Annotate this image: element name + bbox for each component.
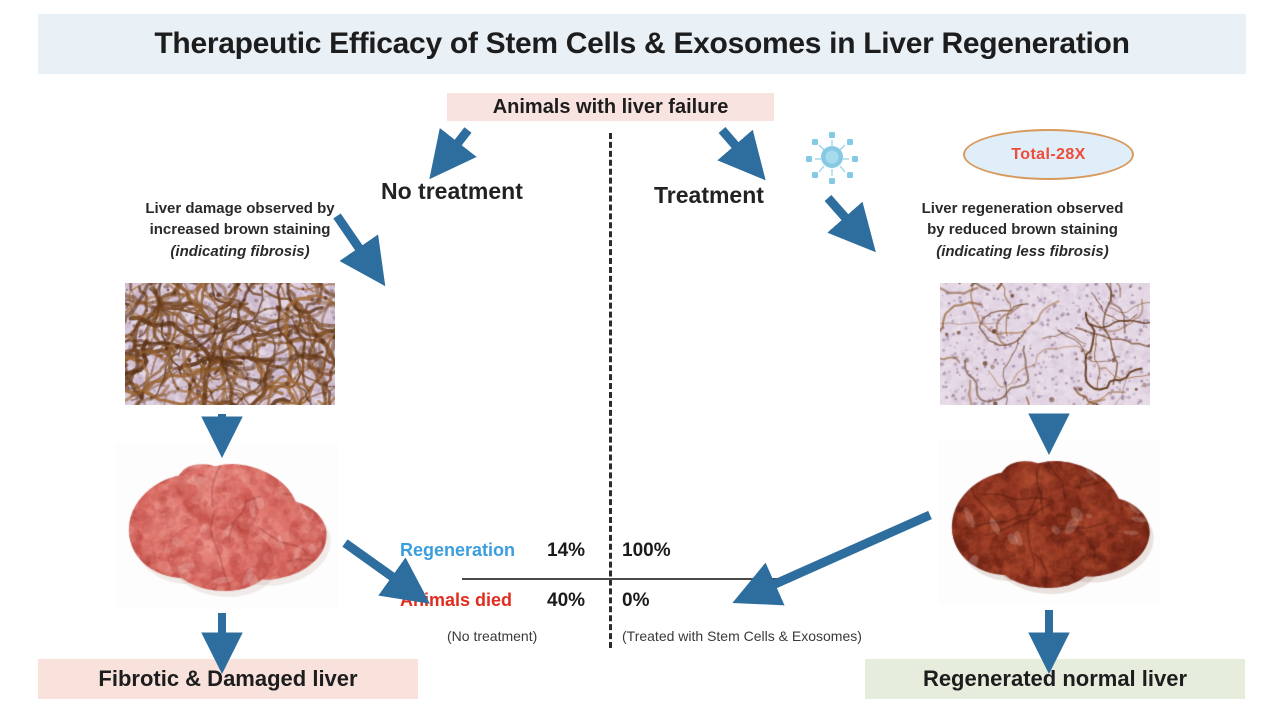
histology-image-treated	[940, 283, 1150, 405]
liver-regenerated-canvas	[938, 440, 1161, 606]
stat-value-regeneration-treated: 100%	[622, 540, 671, 562]
stat-caption-untreated: (No treatment)	[447, 628, 537, 644]
result-box-fibrotic: Fibrotic & Damaged liver	[38, 659, 418, 699]
description-left-line2: increased brown staining	[95, 219, 385, 240]
figure-title-bar: Therapeutic Efficacy of Stem Cells & Exo…	[38, 14, 1246, 74]
branch-label-treatment: Treatment	[654, 182, 764, 209]
exosome-vesicle-icon	[803, 128, 861, 186]
stat-value-died-untreated: 40%	[547, 590, 585, 612]
animals-with-liver-failure-label: Animals with liver failure	[447, 93, 774, 121]
liver-fibrotic-canvas	[115, 443, 338, 609]
arrow-to-treatment	[722, 130, 748, 160]
result-label-regenerated: Regenerated normal liver	[923, 666, 1187, 692]
stat-row-regeneration: Regeneration	[400, 540, 515, 561]
result-label-fibrotic: Fibrotic & Damaged liver	[98, 666, 357, 692]
histology-treated-canvas	[940, 283, 1150, 405]
description-left-line1: Liver damage observed by	[95, 198, 385, 219]
arrow-to-no-treatment	[446, 130, 468, 158]
stat-caption-treated: (Treated with Stem Cells & Exosomes)	[622, 628, 862, 644]
stat-label-animals-died: Animals died	[400, 590, 512, 611]
result-box-regenerated: Regenerated normal liver	[865, 659, 1245, 699]
figure-canvas: Therapeutic Efficacy of Stem Cells & Exo…	[0, 0, 1280, 720]
histology-image-untreated	[125, 283, 335, 405]
description-left-line3: (indicating fibrosis)	[95, 241, 385, 262]
liver-photo-regenerated	[938, 440, 1161, 606]
magnification-badge: Total-28X	[963, 129, 1134, 180]
page-title: Therapeutic Efficacy of Stem Cells & Exo…	[154, 27, 1129, 61]
arrow-to-treated-histology	[828, 198, 858, 232]
stat-label-regeneration: Regeneration	[400, 540, 515, 561]
stat-value-died-treated: 0%	[622, 590, 649, 612]
histology-untreated-canvas	[125, 283, 335, 405]
outcome-statistics: Regeneration 14% 100% Animals died 40% 0…	[400, 540, 820, 645]
description-right-line1: Liver regeneration observed	[875, 198, 1170, 219]
branch-label-no-treatment: No treatment	[381, 178, 523, 205]
magnification-badge-text: Total-28X	[1011, 146, 1085, 164]
stat-value-regeneration-untreated: 14%	[547, 540, 585, 562]
description-right-line3: (indicating less fibrosis)	[875, 241, 1170, 262]
description-right-line2: by reduced brown staining	[875, 219, 1170, 240]
stat-row-animals-died: Animals died	[400, 590, 512, 611]
stat-divider-line	[462, 578, 780, 580]
arrow-left-liver-to-stats	[345, 543, 408, 588]
description-right: Liver regeneration observed by reduced b…	[875, 198, 1170, 262]
top-label-text: Animals with liver failure	[493, 96, 729, 119]
description-left: Liver damage observed by increased brown…	[95, 198, 385, 262]
liver-photo-fibrotic	[115, 443, 338, 609]
